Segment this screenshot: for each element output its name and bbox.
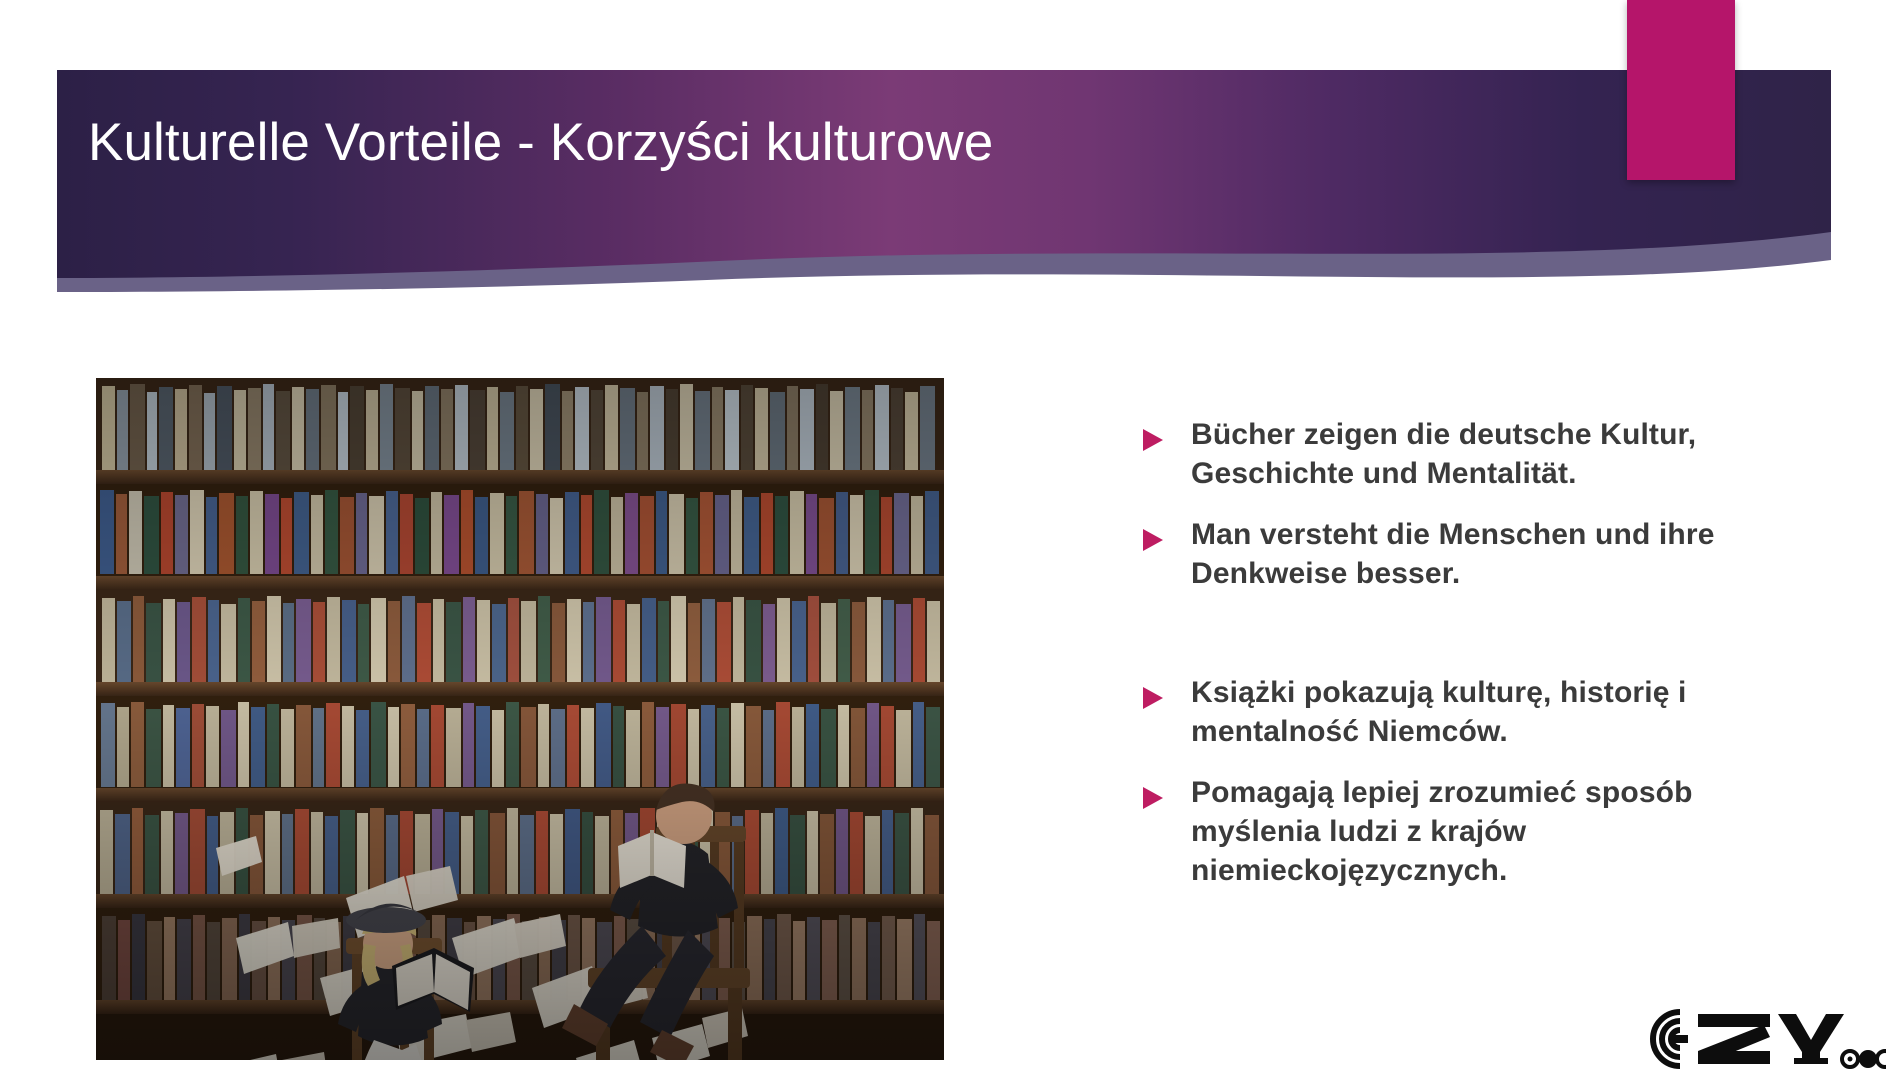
group-spacer: [1140, 615, 1800, 673]
triangle-bullet-icon: [1140, 415, 1166, 453]
list-item: Man versteht die Menschen und ihre Denkw…: [1140, 515, 1800, 593]
header-gradient-band: [57, 70, 1831, 278]
triangle-bullet-icon: [1140, 673, 1166, 711]
czy-logo-mark: [1636, 1006, 1886, 1072]
accent-bar: [1627, 0, 1735, 180]
czy-logo: [1636, 1006, 1886, 1072]
triangle-bullet-icon: [1140, 773, 1166, 811]
list-item: Pomagają lepiej zrozumieć sposób myśleni…: [1140, 773, 1800, 890]
list-item-text: Bücher zeigen die deutsche Kultur, Gesch…: [1191, 415, 1800, 493]
list-item-text: Pomagają lepiej zrozumieć sposób myśleni…: [1191, 773, 1800, 890]
page-title: Kulturelle Vorteile - Korzyści kulturowe: [88, 113, 1288, 174]
library-children-photo: [96, 378, 944, 1060]
header-curve-underlay: [57, 70, 1831, 292]
bullet-group-german: Bücher zeigen die deutsche Kultur, Gesch…: [1140, 415, 1800, 593]
triangle-bullet-icon: [1140, 515, 1166, 553]
list-item-text: Man versteht die Menschen und ihre Denkw…: [1191, 515, 1800, 593]
list-item-text: Książki pokazują kulturę, historię i men…: [1191, 673, 1800, 751]
library-photo-illustration: [96, 378, 944, 1060]
list-item: Książki pokazują kulturę, historię i men…: [1140, 673, 1800, 751]
bullet-group-polish: Książki pokazują kulturę, historię i men…: [1140, 673, 1800, 890]
bullet-list: Bücher zeigen die deutsche Kultur, Gesch…: [1140, 415, 1800, 912]
list-item: Bücher zeigen die deutsche Kultur, Gesch…: [1140, 415, 1800, 493]
